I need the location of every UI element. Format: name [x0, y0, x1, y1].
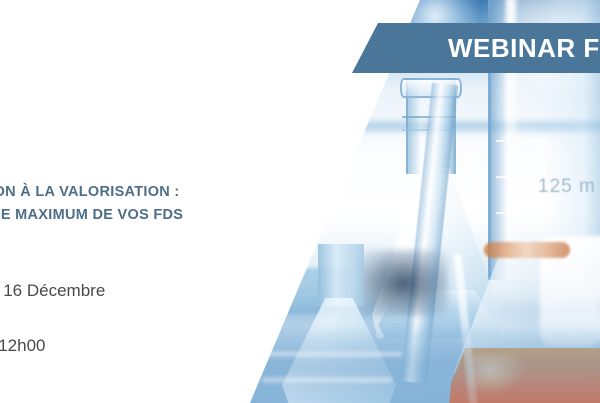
graduation-mark [496, 140, 548, 142]
webinar-banner-ribbon: WEBINAR F [352, 23, 600, 73]
webinar-banner-label: WEBINAR F [448, 33, 600, 64]
webinar-banner-image: 125 m [0, 0, 600, 403]
graduation-label: 125 m [538, 176, 596, 198]
flask-rim-light [484, 242, 570, 258]
webinar-title: A GESTION À LA VALORISATION : LOITEZ LE … [0, 181, 294, 227]
webinar-time: 11h - 12h00 [0, 336, 45, 356]
graduation-mark [496, 212, 548, 214]
flask-neck [318, 244, 364, 306]
webinar-date: Mardi 16 Décembre [0, 281, 105, 301]
webinar-title-line-2: LOITEZ LE MAXIMUM DE VOS FDS [0, 204, 294, 227]
webinar-title-line-1: A GESTION À LA VALORISATION : [0, 181, 294, 204]
foreground-blur-band [250, 330, 600, 403]
text-panel: A GESTION À LA VALORISATION : LOITEZ LE … [0, 0, 300, 403]
